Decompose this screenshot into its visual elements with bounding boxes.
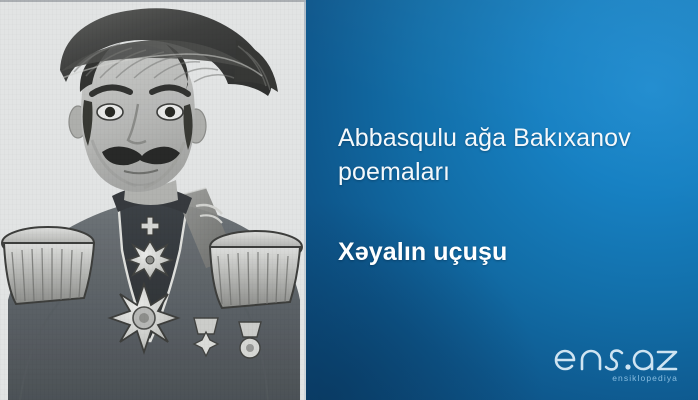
portrait-illustration — [0, 0, 306, 400]
logo-dot — [625, 364, 630, 369]
work-subtitle: Xəyalın uçuşu — [338, 236, 678, 269]
portrait-panel — [0, 0, 306, 400]
logo-tagline: ensiklopediya — [612, 373, 678, 383]
title-block: Abbasqulu ağa Bakıxanov poemaları — [338, 122, 678, 189]
info-panel: Abbasqulu ağa Bakıxanov poemaları Xəyalı… — [306, 0, 698, 400]
work-title: Abbasqulu ağa Bakıxanov poemaları — [338, 122, 678, 189]
photo-top-edge — [0, 0, 306, 2]
ens-az-logo-icon: ensiklopediya — [552, 334, 682, 386]
ens-az-logo[interactable]: ensiklopediya — [552, 334, 682, 386]
screenshot-root: Abbasqulu ağa Bakıxanov poemaları Xəyalı… — [0, 0, 698, 400]
